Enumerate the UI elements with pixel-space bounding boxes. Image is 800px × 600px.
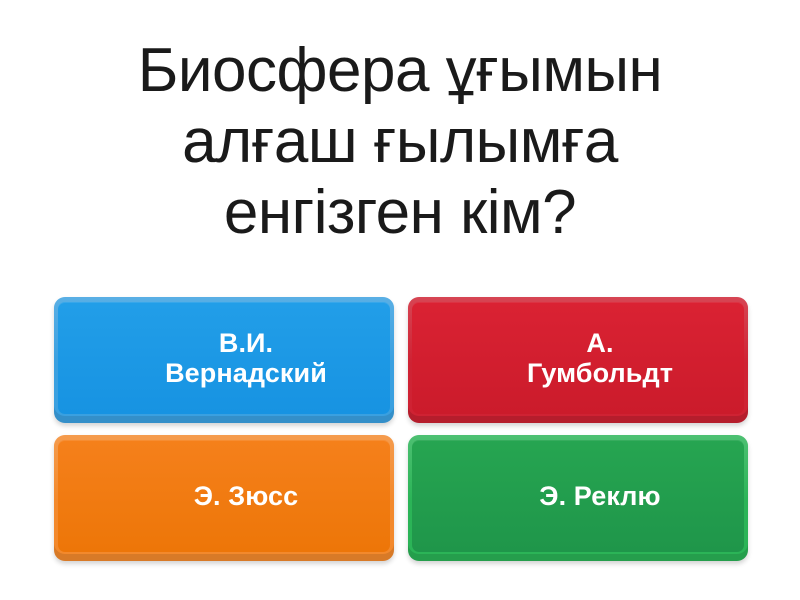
answer-option-a[interactable]: A В.И. Вернадский [54, 297, 394, 423]
answer-options-grid: A В.И. Вернадский B А. Гумбольдт C Э. Зю… [54, 297, 748, 561]
answer-label-c: Э. Зюсс [194, 481, 299, 511]
answer-option-b[interactable]: B А. Гумбольдт [408, 297, 748, 423]
answer-label-a: В.И. Вернадский [165, 328, 327, 388]
answer-face-c: Э. Зюсс [58, 440, 390, 552]
answer-option-c[interactable]: C Э. Зюсс [54, 435, 394, 561]
answer-label-b: А. Гумбольдт [527, 328, 673, 388]
answer-option-d[interactable]: D Э. Реклю [408, 435, 748, 561]
answer-face-d: Э. Реклю [412, 440, 744, 552]
question-area: Биосфера ұғымын алғаш ғылымға енгізген к… [0, 0, 800, 285]
answer-label-d: Э. Реклю [539, 481, 660, 511]
quiz-screen: Биосфера ұғымын алғаш ғылымға енгізген к… [0, 0, 800, 600]
answer-face-a: В.И. Вернадский [58, 302, 390, 414]
question-text: Биосфера ұғымын алғаш ғылымға енгізген к… [138, 36, 663, 248]
answer-face-b: А. Гумбольдт [412, 302, 744, 414]
